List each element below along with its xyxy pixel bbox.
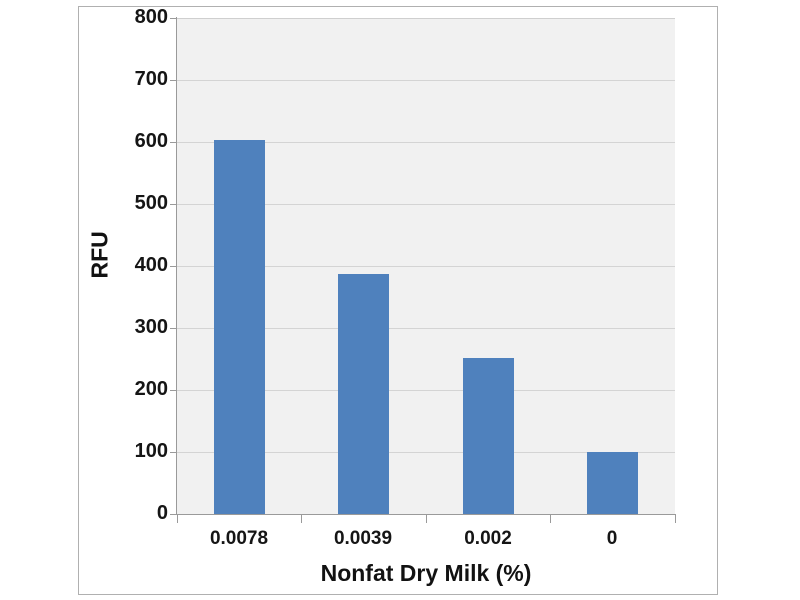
y-tick-mark-700: [170, 80, 177, 81]
y-tick-mark-100: [170, 452, 177, 453]
x-tick-label-3: 0: [542, 528, 682, 550]
y-tick-mark-500: [170, 204, 177, 205]
gridline-800: [177, 18, 675, 19]
y-tick-mark-600: [170, 142, 177, 143]
y-tick-mark-300: [170, 328, 177, 329]
y-tick-label-500: 500: [108, 193, 168, 213]
bar-chart: 800 700 600 500 400 300 200 100 0 0.0078…: [0, 0, 800, 600]
plot-area: [177, 18, 675, 514]
y-tick-label-300: 300: [108, 317, 168, 337]
y-tick-mark-400: [170, 266, 177, 267]
bar-1[interactable]: [338, 274, 389, 514]
bar-2[interactable]: [463, 358, 514, 514]
y-tick-mark-0: [170, 514, 177, 515]
y-tick-label-0: 0: [108, 503, 168, 523]
y-tick-label-200: 200: [108, 379, 168, 399]
y-axis-title: RFU: [87, 235, 114, 279]
y-tick-label-100: 100: [108, 441, 168, 461]
y-tick-mark-200: [170, 390, 177, 391]
x-tick-mark-2: [426, 515, 427, 523]
bar-3[interactable]: [587, 452, 638, 514]
y-tick-mark-800: [170, 18, 177, 19]
x-tick-label-0: 0.0078: [169, 528, 309, 550]
bar-0[interactable]: [214, 140, 265, 514]
x-tick-mark-4: [675, 515, 676, 523]
x-tick-label-2: 0.002: [418, 528, 558, 550]
gridline-700: [177, 80, 675, 81]
x-axis-title: Nonfat Dry Milk (%): [177, 560, 675, 587]
y-tick-label-700: 700: [108, 69, 168, 89]
x-tick-mark-3: [550, 515, 551, 523]
y-tick-label-600: 600: [108, 131, 168, 151]
y-tick-label-800: 800: [108, 7, 168, 27]
y-tick-label-400: 400: [108, 255, 168, 275]
x-tick-mark-0: [177, 515, 178, 523]
x-tick-label-1: 0.0039: [293, 528, 433, 550]
x-tick-mark-1: [301, 515, 302, 523]
